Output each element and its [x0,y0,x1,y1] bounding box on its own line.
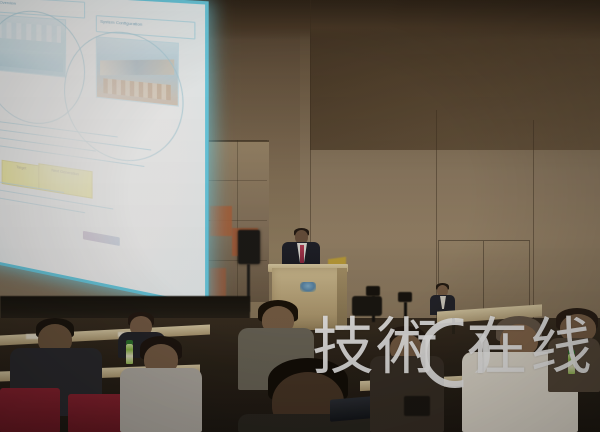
audience-laptop [330,396,372,422]
slide-title-box-2-label: System Configuration [97,16,194,34]
slide-highlight-cell-1: Target [2,160,42,191]
slide-body-line [0,180,64,193]
tripod-leg [404,302,407,324]
slide-ellipse-right [64,28,184,170]
presenter-tie [300,245,304,263]
slide-body-line [0,129,151,151]
slide-body-line [0,188,113,209]
av-equipment-case [352,296,382,316]
slide-title-box-2: System Configuration [96,15,196,39]
audience-laptop [404,396,430,416]
slide-highlight-cell-1-label: Target [16,165,26,171]
audience-bottle [568,354,575,374]
conference-photo: Overview System Configuration Target Nex [0,0,600,432]
podium-side-panel [337,268,347,328]
audience-bottle [126,344,133,364]
slide-highlight-cell-2-label: Next Generation [52,168,79,176]
presentation-slide: Overview System Configuration Target Nex [0,0,205,304]
podium-emblem-icon [300,282,316,292]
slide-ellipse-left [0,8,85,131]
audience-chair [0,388,60,432]
slide-title-box-1: Overview [0,0,85,19]
slide-body-line [0,137,96,152]
video-camera-icon [366,286,380,296]
slide-thumbnail-interior [0,14,66,78]
slide-title-box-1-label: Overview [0,0,84,13]
slide-highlight-cell-2: Next Generation [38,163,92,199]
slide-body-line [0,196,85,213]
projection-screen-surface: Overview System Configuration Target Nex [0,0,205,304]
slide-body-line [0,120,118,137]
slide-body-line [0,145,144,167]
projection-screen: Overview System Configuration Target Nex [0,0,205,304]
slide-thumbnail-aerial [96,36,179,107]
door-mullion [483,241,484,316]
pa-speaker-icon [238,230,260,264]
audience-body [120,368,202,432]
wall-seam-far-right [533,120,534,320]
slide-footer-logo [83,231,120,246]
video-camera-icon [398,292,412,302]
